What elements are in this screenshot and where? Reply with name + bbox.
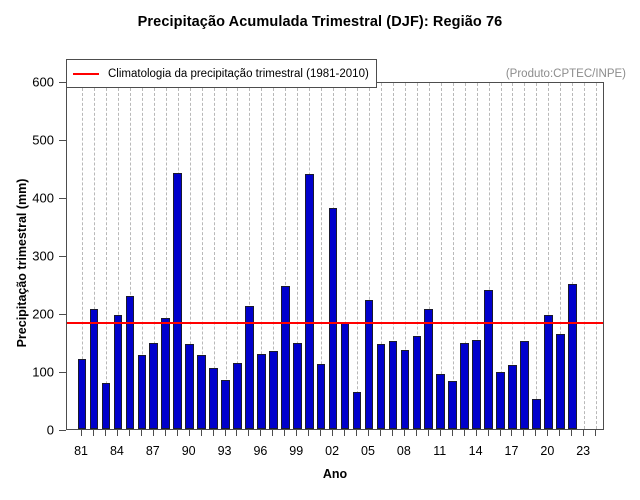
x-axis-tick	[153, 430, 154, 436]
y-axis-tick	[59, 82, 66, 83]
x-axis-tick	[356, 430, 357, 436]
x-axis-tick-label: 84	[110, 444, 124, 458]
bar	[508, 365, 517, 429]
x-axis-tick	[464, 430, 465, 436]
x-axis-tick	[344, 430, 345, 436]
x-axis-tick	[272, 430, 273, 436]
bar	[472, 340, 481, 429]
x-axis-tick	[117, 430, 118, 436]
x-axis-tick	[284, 430, 285, 436]
x-axis-tick-label: 87	[146, 444, 160, 458]
x-axis-tick-label: 14	[469, 444, 483, 458]
bar	[460, 343, 469, 429]
bar	[281, 286, 290, 429]
bar	[233, 363, 242, 429]
product-credit-note: (Produto:CPTEC/INPE)	[506, 68, 626, 80]
x-axis-tick	[404, 430, 405, 436]
x-axis: 818487909396990205081114172023	[66, 430, 604, 500]
bar	[365, 300, 374, 429]
y-axis-tick-label: 100	[32, 365, 54, 380]
legend-label: Climatologia da precipitação trimestral …	[108, 68, 369, 80]
x-axis-tick	[105, 430, 106, 436]
x-axis-tick	[165, 430, 166, 436]
bar	[353, 392, 362, 429]
bar	[436, 374, 445, 429]
bar	[520, 341, 529, 429]
x-axis-tick	[236, 430, 237, 436]
x-axis-tick-label: 11	[433, 444, 446, 458]
x-axis-tick-label: 96	[253, 444, 267, 458]
bar	[138, 355, 147, 429]
x-axis-tick	[308, 430, 309, 436]
x-axis-tick	[225, 430, 226, 436]
x-axis-tick	[368, 430, 369, 436]
bar	[126, 296, 135, 429]
bar	[185, 344, 194, 429]
x-axis-tick	[392, 430, 393, 436]
x-axis-tick	[428, 430, 429, 436]
x-axis-tick	[440, 430, 441, 436]
x-axis-tick-label: 05	[361, 444, 375, 458]
bar	[173, 173, 182, 429]
x-axis-tick-label: 08	[397, 444, 411, 458]
x-axis-tick	[332, 430, 333, 436]
y-axis-tick-label: 400	[32, 191, 54, 206]
bar	[448, 381, 457, 429]
x-axis-tick-label: 23	[576, 444, 590, 458]
x-axis-tick	[571, 430, 572, 436]
x-axis-tick	[452, 430, 453, 436]
chart-figure: Precipitação Acumulada Trimestral (DJF):…	[0, 0, 640, 500]
y-axis-tick-label: 500	[32, 133, 54, 148]
x-axis-tick	[129, 430, 130, 436]
x-axis-tick	[523, 430, 524, 436]
x-axis-tick-label: 20	[540, 444, 554, 458]
x-axis-tick	[177, 430, 178, 436]
y-axis-tick	[59, 372, 66, 373]
x-axis-tick	[476, 430, 477, 436]
x-axis-tick	[500, 430, 501, 436]
x-axis-tick	[93, 430, 94, 436]
x-axis-tick	[189, 430, 190, 436]
bar-series	[67, 83, 603, 429]
bar	[221, 380, 230, 429]
bar	[544, 315, 553, 429]
x-axis-tick	[296, 430, 297, 436]
bar	[377, 344, 386, 429]
climatology-reference-line	[67, 322, 604, 324]
bar	[102, 383, 111, 429]
x-axis-tick-label: 90	[182, 444, 196, 458]
page-title: Precipitação Acumulada Trimestral (DJF):…	[0, 14, 640, 30]
bar	[341, 323, 350, 429]
x-axis-tick	[141, 430, 142, 436]
plot-area	[66, 82, 604, 430]
x-axis-tick-label: 81	[74, 444, 88, 458]
x-axis-tick	[81, 430, 82, 436]
x-axis-tick	[488, 430, 489, 436]
x-axis-tick	[213, 430, 214, 436]
y-axis-tick	[59, 256, 66, 257]
y-axis-tick-label: 300	[32, 249, 54, 264]
bar	[532, 399, 541, 429]
bar	[329, 208, 338, 429]
y-axis-tick	[59, 198, 66, 199]
x-axis-tick	[260, 430, 261, 436]
x-axis-tick	[595, 430, 596, 436]
y-axis-tick-label: 0	[47, 423, 54, 438]
x-axis-tick	[320, 430, 321, 436]
bar	[496, 372, 505, 429]
bar	[413, 336, 422, 429]
bar	[317, 364, 326, 429]
y-axis-tick-label: 200	[32, 307, 54, 322]
bar	[197, 355, 206, 429]
bar	[293, 343, 302, 429]
y-axis: Precipitação trimestral (mm) 01002003004…	[0, 0, 66, 500]
bar	[161, 318, 170, 429]
chart-legend: Climatologia da precipitação trimestral …	[66, 59, 377, 88]
bar	[556, 334, 565, 429]
y-axis-tick	[59, 140, 66, 141]
x-axis-tick-label: 99	[289, 444, 303, 458]
x-axis-tick	[547, 430, 548, 436]
y-axis-tick	[59, 314, 66, 315]
x-axis-label: Ano	[66, 467, 604, 481]
x-axis-tick	[380, 430, 381, 436]
bar	[389, 341, 398, 429]
x-axis-tick	[583, 430, 584, 436]
bar	[424, 309, 433, 429]
bar	[78, 359, 87, 429]
x-axis-tick	[559, 430, 560, 436]
x-axis-tick	[248, 430, 249, 436]
y-axis-label: Precipitação trimestral (mm)	[15, 83, 29, 443]
bar	[149, 343, 158, 429]
bar	[114, 315, 123, 429]
x-axis-tick-label: 02	[325, 444, 339, 458]
x-axis-tick	[416, 430, 417, 436]
bar	[209, 368, 218, 429]
bar	[90, 309, 99, 429]
y-axis-tick-label: 600	[32, 75, 54, 90]
bar	[269, 351, 278, 429]
legend-line-swatch	[73, 73, 99, 75]
bar	[401, 350, 410, 429]
x-axis-tick	[201, 430, 202, 436]
bar	[305, 174, 314, 429]
y-axis-tick	[59, 430, 66, 431]
x-axis-tick	[535, 430, 536, 436]
x-axis-tick	[511, 430, 512, 436]
bar	[245, 306, 254, 429]
bar	[484, 290, 493, 429]
x-axis-tick-label: 93	[218, 444, 232, 458]
x-axis-tick-label: 17	[505, 444, 519, 458]
bar	[257, 354, 266, 429]
bar	[568, 284, 577, 429]
